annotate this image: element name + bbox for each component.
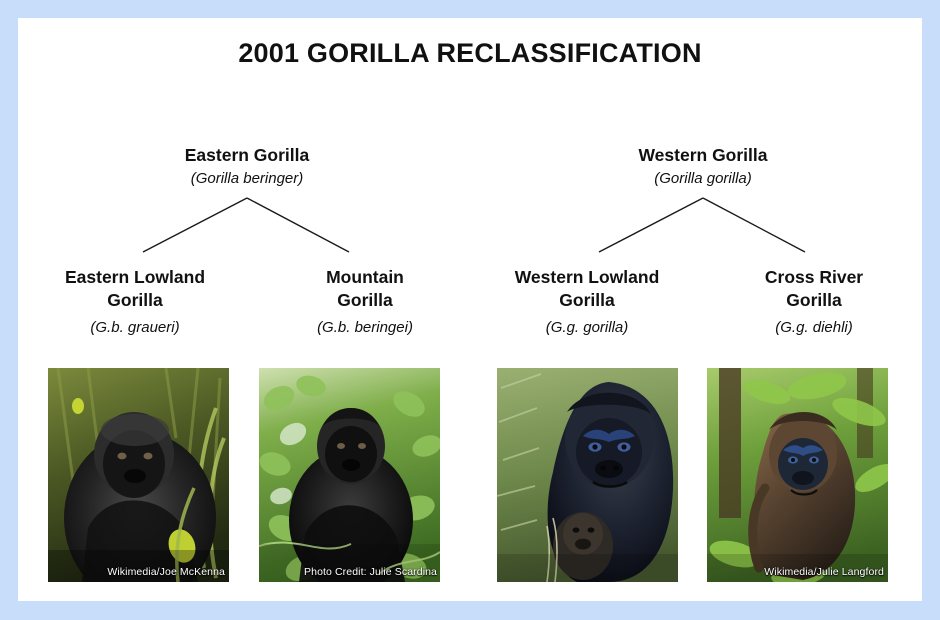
subspecies-name-line1: Mountain: [265, 266, 465, 289]
subspecies-node-cross-river-gorilla: Cross River Gorilla (G.g. diehli): [714, 266, 914, 338]
photo-cross-river-gorilla: Wikimedia/Julie Langford: [706, 367, 889, 583]
connector-eastern-left: [143, 198, 247, 252]
subspecies-name-line2: Gorilla: [714, 289, 914, 312]
poster-canvas: 2001 GORILLA RECLASSIFICATION Eastern Go…: [18, 18, 922, 601]
poster-frame: 2001 GORILLA RECLASSIFICATION Eastern Go…: [0, 0, 940, 620]
subspecies-node-eastern-lowland-gorilla: Eastern Lowland Gorilla (G.b. graueri): [35, 266, 235, 338]
species-binomial: (Gorilla gorilla): [563, 168, 843, 189]
subspecies-trinomial: (G.g. gorilla): [487, 317, 687, 338]
subspecies-trinomial: (G.b. graueri): [35, 317, 235, 338]
photo-mountain-gorilla: Photo Credit: Julie Scardina: [258, 367, 441, 583]
species-binomial: (Gorilla beringer): [107, 168, 387, 189]
subspecies-trinomial: (G.g. diehli): [714, 317, 914, 338]
subspecies-trinomial: (G.b. beringei): [265, 317, 465, 338]
connector-western-right: [703, 198, 805, 252]
subspecies-name-line2: Gorilla: [35, 289, 235, 312]
subspecies-name-line1: Eastern Lowland: [35, 266, 235, 289]
photo-western-lowland-gorilla: [496, 367, 679, 583]
species-node-western-gorilla: Western Gorilla (Gorilla gorilla): [563, 144, 843, 189]
subspecies-name-line1: Western Lowland: [487, 266, 687, 289]
photo-artwork: [48, 368, 229, 582]
photo-credit: Wikimedia/Julie Langford: [764, 566, 884, 578]
photo-artwork: [707, 368, 888, 582]
species-name: Western Gorilla: [563, 144, 843, 166]
subspecies-node-mountain-gorilla: Mountain Gorilla (G.b. beringei): [265, 266, 465, 338]
subspecies-name-line1: Cross River: [714, 266, 914, 289]
subspecies-node-western-lowland-gorilla: Western Lowland Gorilla (G.g. gorilla): [487, 266, 687, 338]
photo-artwork: [259, 368, 440, 582]
species-name: Eastern Gorilla: [107, 144, 387, 166]
photo-artwork: [497, 368, 678, 582]
photo-eastern-lowland-gorilla: Wikimedia/Joe McKenna: [47, 367, 230, 583]
page-title: 2001 GORILLA RECLASSIFICATION: [18, 38, 922, 69]
photo-credit: Photo Credit: Julie Scardina: [304, 566, 437, 578]
connector-eastern-right: [247, 198, 349, 252]
connector-western-left: [599, 198, 703, 252]
photo-credit: Wikimedia/Joe McKenna: [107, 566, 225, 578]
species-node-eastern-gorilla: Eastern Gorilla (Gorilla beringer): [107, 144, 387, 189]
subspecies-name-line2: Gorilla: [487, 289, 687, 312]
subspecies-name-line2: Gorilla: [265, 289, 465, 312]
